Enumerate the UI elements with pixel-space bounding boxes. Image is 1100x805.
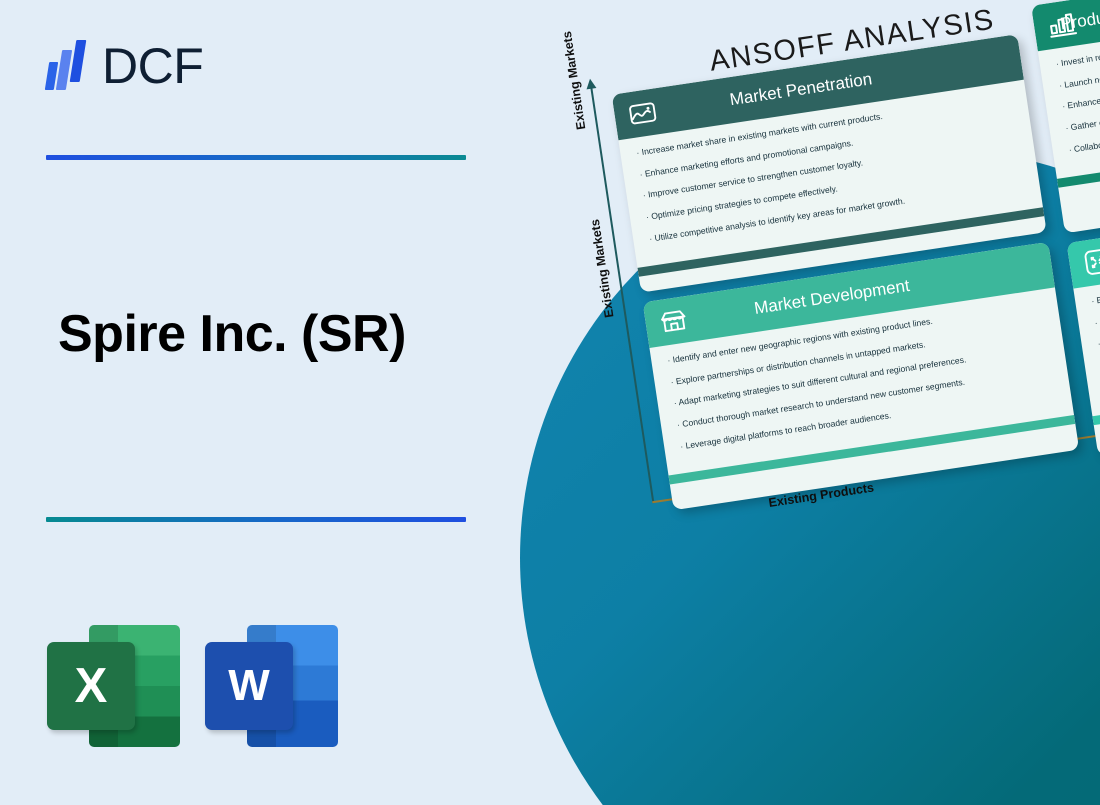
divider-bottom [46,517,466,522]
storefront-icon [657,304,691,338]
list-item: Invest in ac [1094,285,1100,328]
brand-logo: DCF [46,40,203,92]
divider-top [46,155,466,160]
expand-icon [1081,245,1100,279]
y-axis-label-top: Existing Markets [560,30,589,130]
brand-logo-text: DCF [102,41,203,91]
slide-canvas: DCF Spire Inc. (SR) X W ANSOFF ANALYSIS … [0,0,1100,805]
excel-letter: X [75,662,108,711]
word-file-icon[interactable]: W [205,625,338,747]
file-format-badges: X W [47,625,338,747]
bars-logo-icon [46,40,90,92]
word-letter: W [228,664,270,708]
ansoff-matrix-graphic: ANSOFF ANALYSIS Existing Markets Existin… [500,0,1100,805]
bar-chart-icon [1045,7,1079,41]
excel-file-icon[interactable]: X [47,625,180,747]
page-title: Spire Inc. (SR) [58,305,488,365]
matrix-plane: ANSOFF ANALYSIS Existing Markets Existin… [500,0,1100,627]
wallet-icon [626,96,660,130]
